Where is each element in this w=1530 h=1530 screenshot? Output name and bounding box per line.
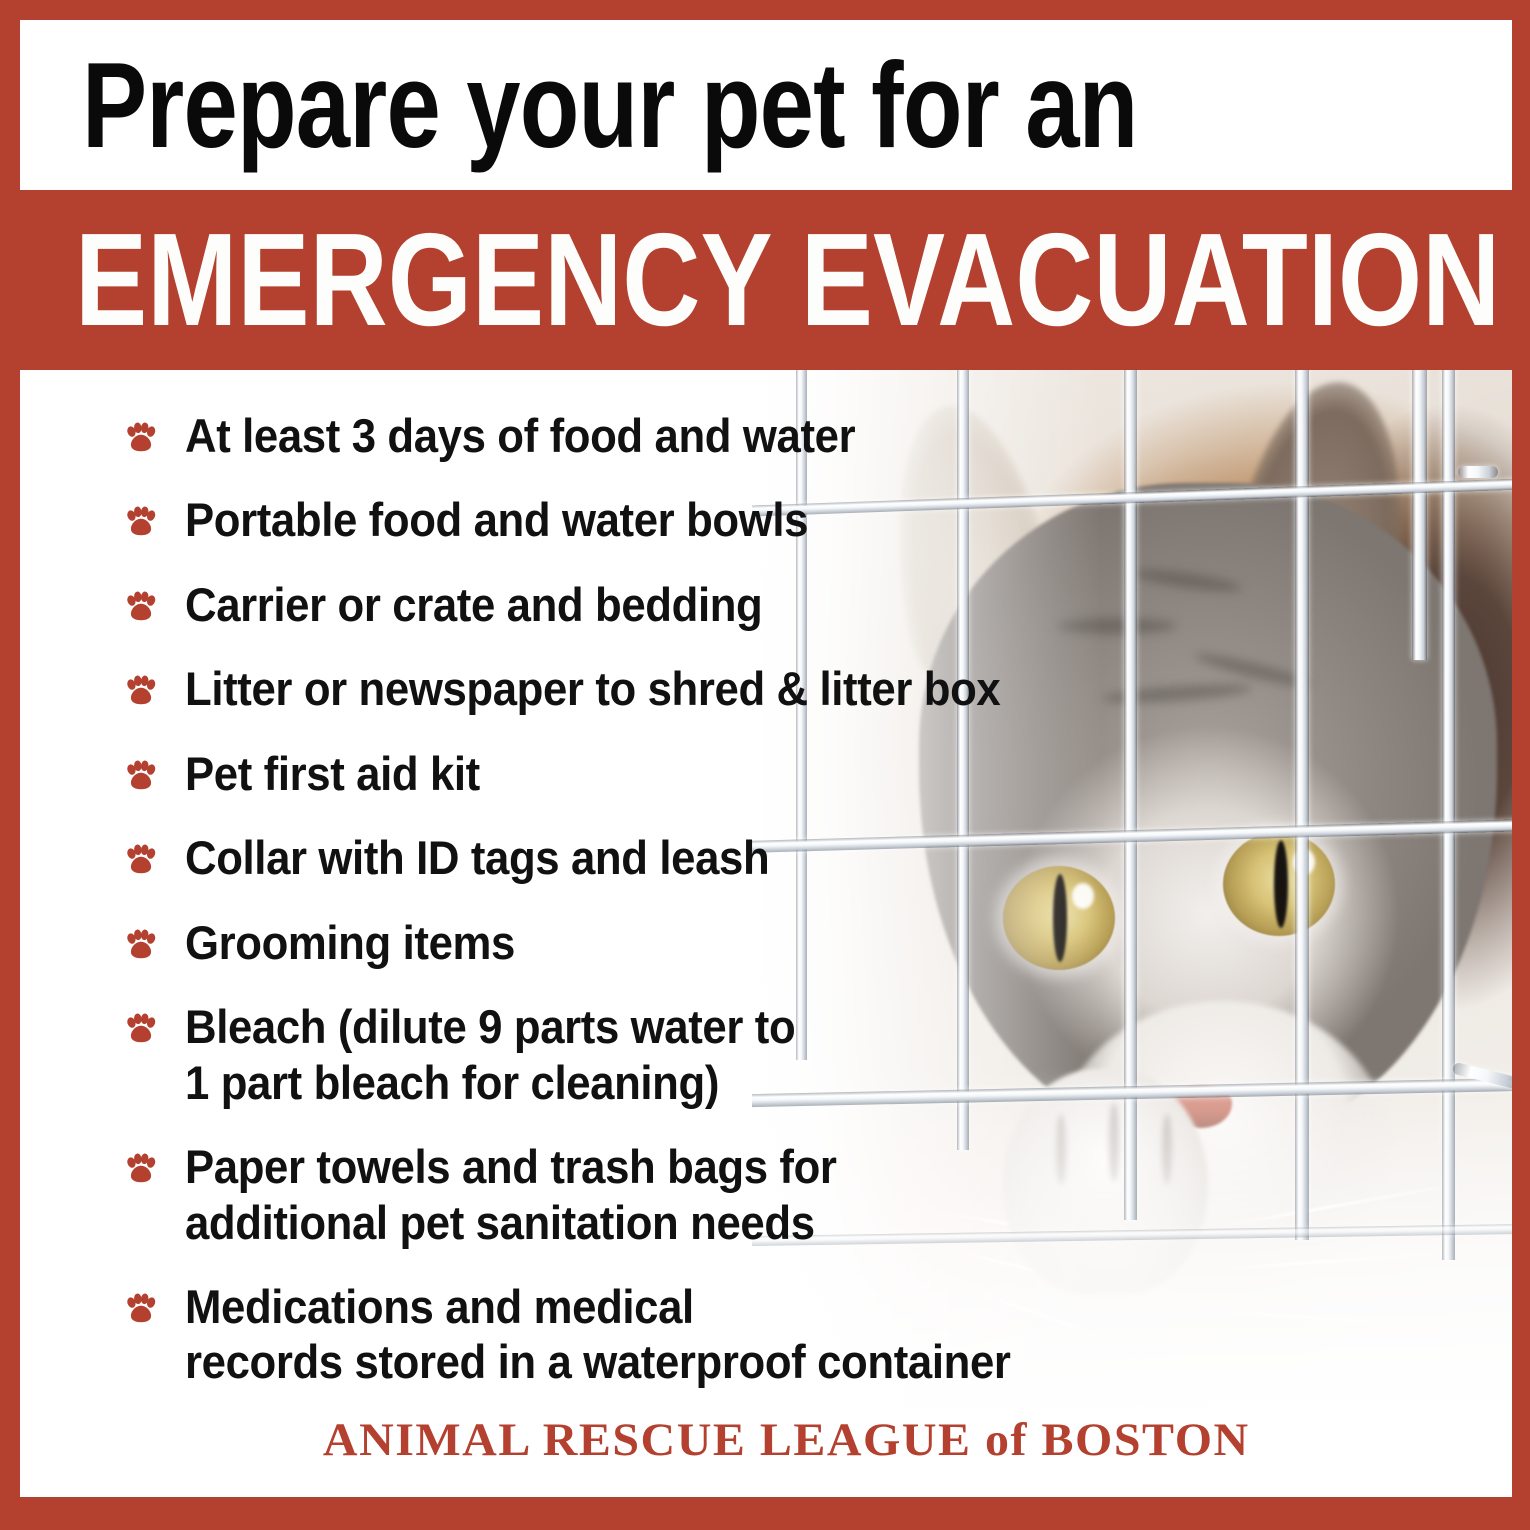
list-item[interactable]: Pet first aid kit <box>124 746 1084 801</box>
cage-bar-vertical <box>1295 370 1309 1240</box>
list-item[interactable]: Portable food and water bowls <box>124 492 1084 547</box>
list-item-label: Medications and medical records stored i… <box>185 1279 1011 1390</box>
paw-print-icon <box>124 591 158 625</box>
paw-print-icon <box>124 1293 158 1327</box>
list-item-label: Bleach (dilute 9 parts water to 1 part b… <box>185 999 795 1110</box>
paw-print-icon <box>124 506 158 540</box>
list-item[interactable]: At least 3 days of food and water <box>124 408 1084 463</box>
list-item[interactable]: Medications and medical records stored i… <box>124 1279 1084 1390</box>
cage-bar-vertical <box>1412 370 1427 660</box>
list-item-label: Paper towels and trash bags for addition… <box>185 1139 837 1250</box>
list-item-label: Pet first aid kit <box>185 746 480 801</box>
list-item-label: Litter or newspaper to shred & litter bo… <box>185 661 1000 716</box>
list-item-label: Grooming items <box>185 915 515 970</box>
paw-print-icon <box>124 422 158 456</box>
list-item-label: At least 3 days of food and water <box>185 408 855 463</box>
paw-print-icon <box>124 760 158 794</box>
headline-band: EMERGENCY EVACUATION <box>20 190 1512 370</box>
list-item-label: Carrier or crate and bedding <box>185 577 762 632</box>
paw-print-icon <box>124 1153 158 1187</box>
title-box: Prepare your pet for an <box>20 20 1512 190</box>
list-item[interactable]: Paper towels and trash bags for addition… <box>124 1139 1084 1250</box>
paw-print-icon <box>124 929 158 963</box>
paw-print-icon <box>124 1013 158 1047</box>
list-item[interactable]: Litter or newspaper to shred & litter bo… <box>124 661 1084 716</box>
cage-latch <box>1458 466 1498 478</box>
paw-print-icon <box>124 844 158 878</box>
list-item[interactable]: Grooming items <box>124 915 1084 970</box>
page-title: Prepare your pet for an <box>82 44 1137 166</box>
headline-text: EMERGENCY EVACUATION <box>75 214 1500 346</box>
list-item[interactable]: Carrier or crate and bedding <box>124 577 1084 632</box>
content-area: At least 3 days of food and water Portab… <box>20 370 1512 1497</box>
list-item-label: Collar with ID tags and leash <box>185 830 769 885</box>
paw-print-icon <box>124 675 158 709</box>
list-item[interactable]: Collar with ID tags and leash <box>124 830 1084 885</box>
cage-bar-vertical <box>1442 370 1455 1260</box>
list-item-label: Portable food and water bowls <box>185 492 808 547</box>
footer: ANIMAL RESCUE LEAGUE of BOSTON <box>40 1413 1512 1467</box>
checklist: At least 3 days of food and water Portab… <box>124 408 1084 1419</box>
list-item[interactable]: Bleach (dilute 9 parts water to 1 part b… <box>124 999 1084 1110</box>
organization-name: ANIMAL RESCUE LEAGUE of BOSTON <box>323 1413 1250 1467</box>
poster-root: Prepare your pet for an EMERGENCY EVACUA… <box>0 0 1530 1530</box>
